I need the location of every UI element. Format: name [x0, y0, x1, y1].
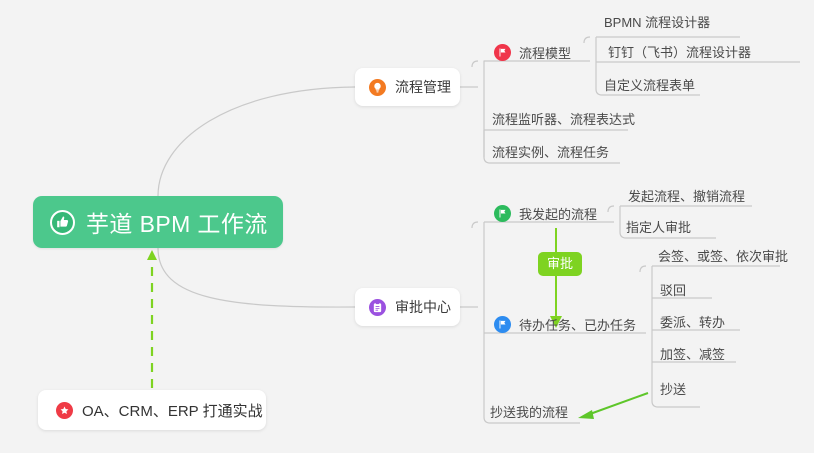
approve-flow-badge: 审批 [538, 252, 582, 276]
node-reject[interactable]: 驳回 [660, 282, 686, 299]
wire-root-to-process [158, 87, 355, 196]
node-cc[interactable]: 抄送 [660, 381, 686, 398]
flag-icon [494, 44, 511, 61]
lightbulb-icon [369, 79, 386, 96]
wire-approve-flow-arrow [550, 228, 562, 328]
node-countersign[interactable]: 会签、或签、依次审批 [658, 248, 788, 265]
node-assignee-approval[interactable]: 指定人审批 [626, 219, 691, 236]
node-process-model[interactable]: 流程模型 [494, 43, 571, 62]
node-label-process-model: 流程模型 [519, 43, 571, 62]
node-process-instance[interactable]: 流程实例、流程任务 [492, 144, 609, 161]
clipboard-icon [369, 299, 386, 316]
node-label-my-flows: 我发起的流程 [519, 204, 597, 223]
flag-icon [494, 205, 511, 222]
node-dingtalk-designer[interactable]: 钉钉（飞书）流程设计器 [608, 44, 751, 61]
flag-icon [494, 316, 511, 333]
footer-node-integration[interactable]: OA、CRM、ERP 打通实战 [38, 390, 266, 430]
thumbs-up-icon [50, 210, 75, 235]
branch-node-approval-center[interactable]: 审批中心 [355, 288, 460, 326]
wire-oa-to-root [147, 250, 157, 388]
node-my-flows[interactable]: 我发起的流程 [494, 204, 597, 223]
branch-label-process-management: 流程管理 [395, 77, 451, 97]
wire-underline-cc [652, 401, 700, 407]
wire-root-to-approval [158, 248, 355, 307]
node-process-listener[interactable]: 流程监听器、流程表达式 [492, 111, 635, 128]
root-node[interactable]: 芋道 BPM 工作流 [33, 196, 283, 248]
branch-node-process-management[interactable]: 流程管理 [355, 68, 460, 106]
mindmap-canvas: 芋道 BPM 工作流 流程管理 审批中心 [0, 0, 814, 453]
node-todo-done-tasks[interactable]: 待办任务、已办任务 [494, 315, 636, 334]
footer-node-label: OA、CRM、ERP 打通实战 [82, 400, 263, 421]
node-delegate-transfer[interactable]: 委派、转办 [660, 314, 725, 331]
node-bpmn-designer[interactable]: BPMN 流程设计器 [604, 14, 710, 31]
node-custom-form[interactable]: 自定义流程表单 [604, 77, 695, 94]
branch-label-approval-center: 审批中心 [395, 297, 451, 317]
node-add-remove-sign[interactable]: 加签、减签 [660, 346, 725, 363]
node-label-todo-done-tasks: 待办任务、已办任务 [519, 315, 636, 334]
node-start-cancel-flow[interactable]: 发起流程、撤销流程 [628, 188, 745, 205]
wire-cc-arrow [578, 393, 648, 419]
root-node-label: 芋道 BPM 工作流 [86, 205, 268, 239]
node-cc-to-me[interactable]: 抄送我的流程 [490, 404, 568, 421]
star-icon [56, 402, 73, 419]
